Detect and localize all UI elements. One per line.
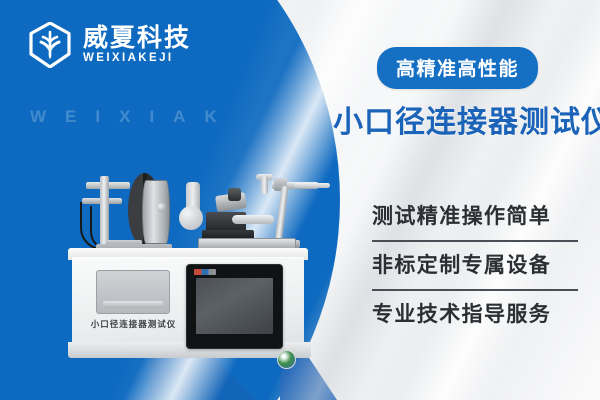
machine-front-label: 小口径连接器测试仪: [76, 318, 191, 330]
center-knob: [228, 188, 241, 201]
hmi-display-screen: [196, 278, 273, 334]
test-wheel-hub: [157, 203, 166, 212]
right-pin: [261, 176, 268, 194]
hero-badge: 高精准高性能: [377, 47, 538, 89]
front-access-panel: [96, 270, 170, 314]
feature-item-3: 专业技术指导服务: [372, 298, 587, 332]
hero-headline: 小口径连接器测试仪: [333, 97, 600, 141]
brand-name-en: WEIXIAKEJI: [83, 53, 191, 65]
hmi-brand-strip: [194, 269, 216, 275]
feature-list: 测试精准操作简单 非标定制专属设备 专业技术指导服务: [372, 200, 587, 332]
feature-item-1: 测试精准操作简单: [372, 200, 587, 234]
certification-badge-icon: [277, 350, 296, 369]
center-paddle-disc: [179, 206, 203, 230]
hexagon-shield-arrow-logo-icon: [28, 22, 72, 68]
feature-divider-1: [372, 240, 578, 242]
brand-name-cn: 威夏科技: [83, 25, 191, 51]
right-extension-rod: [294, 183, 330, 188]
test-wheel-rim: [142, 180, 170, 244]
center-horizontal-rod: [232, 215, 274, 224]
brand-logo: 威夏科技 WEIXIAKEJI: [28, 22, 191, 68]
product-machine-image: 小口径连接器测试仪: [56, 160, 326, 370]
feature-divider-2: [372, 289, 578, 291]
right-arm-vertical: [274, 186, 288, 244]
feature-item-2: 非标定制专属设备: [372, 249, 587, 283]
product-banner: WEIXIAK 威夏科技 WEIXIAKEJI 高精准高性能 小口径连接器测试仪…: [0, 0, 600, 400]
brand-logo-text: 威夏科技 WEIXIAKEJI: [83, 25, 191, 65]
hmi-touch-panel: [186, 264, 283, 349]
